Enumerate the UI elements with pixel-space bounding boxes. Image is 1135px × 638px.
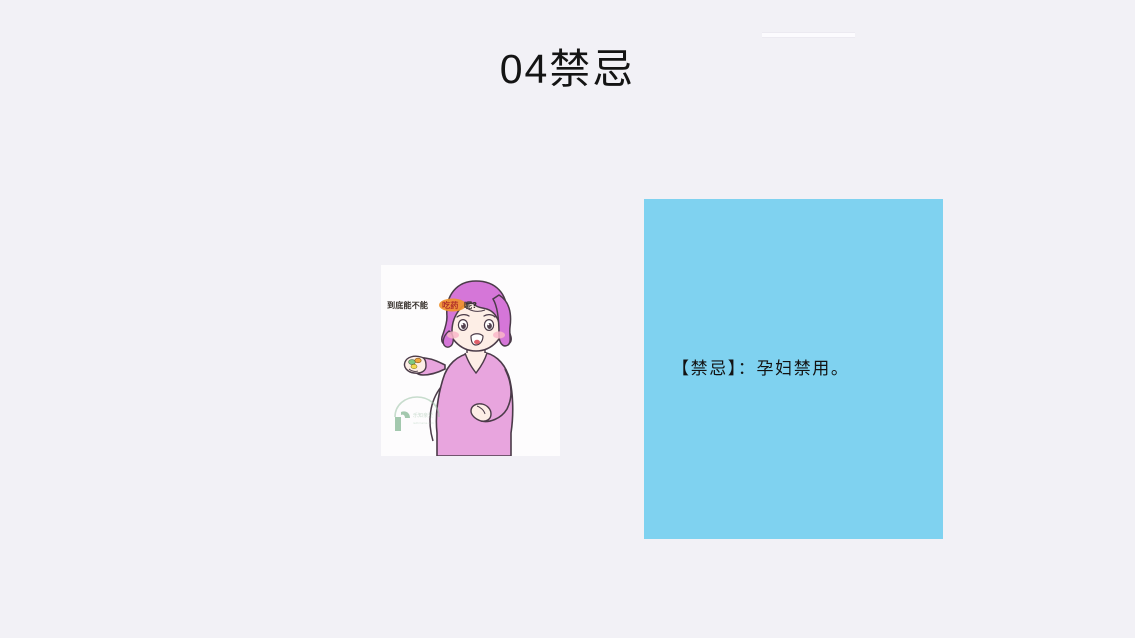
watermark-text: 乐知亲爱 [413, 412, 433, 419]
caption-suffix: 呢? [464, 300, 477, 310]
caption-prefix: 到底能不能 [387, 300, 429, 310]
page-title: 04禁忌 [0, 44, 1135, 94]
caption-highlight: 吃药 [442, 300, 458, 310]
top-decorative-rule [762, 32, 855, 38]
watermark-subtext: lezhimama.com [413, 421, 434, 425]
contraindication-text: 【禁忌】：孕妇禁用。 [644, 356, 864, 382]
slide-canvas: 04禁忌 [0, 0, 1135, 638]
pregnant-woman-illustration: 到底能不能 吃药 呢? 乐知亲爱 lezhimama.com [381, 265, 560, 456]
illustration-image: 到底能不能 吃药 呢? 乐知亲爱 lezhimama.com [381, 265, 560, 456]
content-panel: 【禁忌】：孕妇禁用。 [644, 199, 943, 539]
